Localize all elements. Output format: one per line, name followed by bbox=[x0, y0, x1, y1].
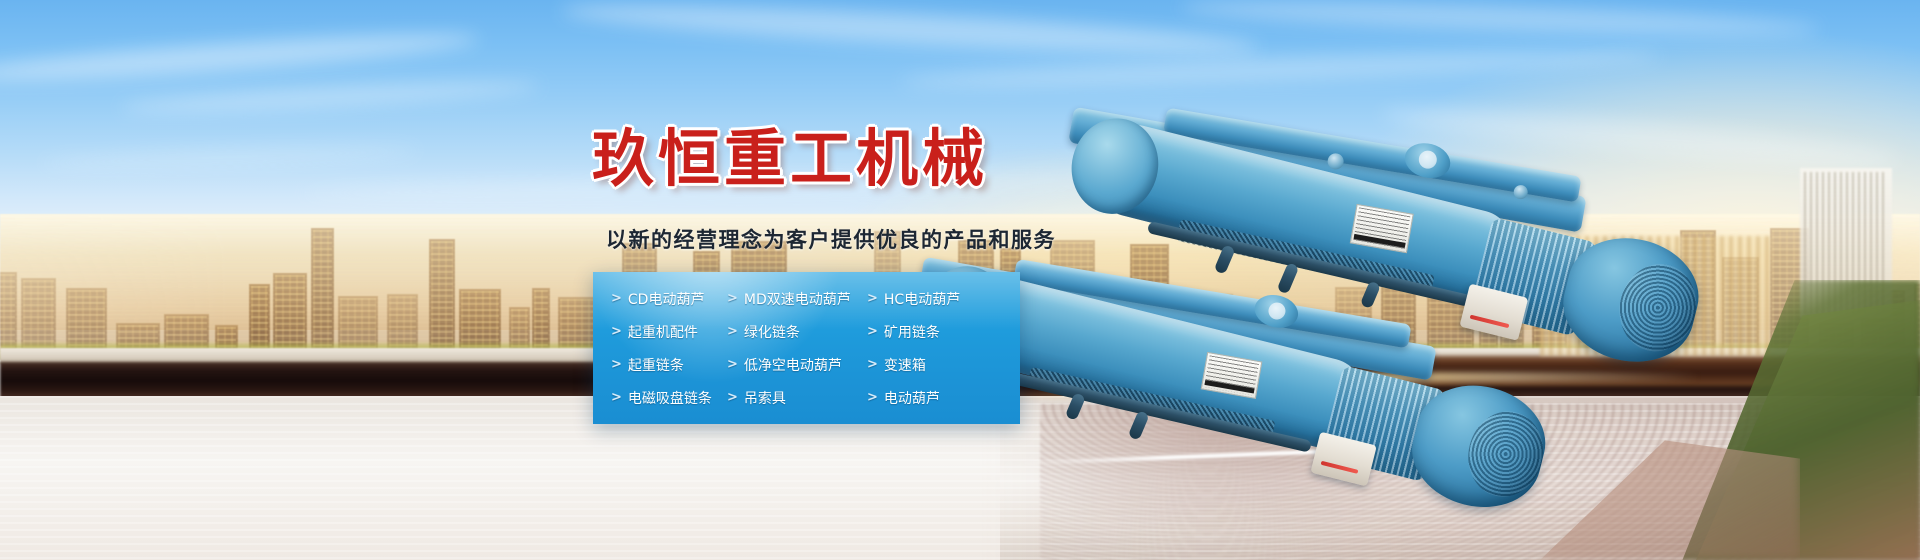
product-category-label: 电动葫芦 bbox=[884, 388, 940, 408]
product-category-label: CD电动葫芦 bbox=[628, 289, 705, 309]
product-category-link[interactable]: >电动葫芦 bbox=[867, 388, 1020, 408]
product-category-link[interactable]: >变速箱 bbox=[867, 355, 1020, 375]
product-category-link[interactable]: >电磁吸盘链条 bbox=[611, 388, 727, 408]
product-category-label: 电磁吸盘链条 bbox=[628, 388, 712, 408]
junction-box-label bbox=[1470, 315, 1510, 329]
product-category-label: 起重机配件 bbox=[628, 322, 698, 342]
chevron-right-icon: > bbox=[611, 390, 622, 405]
product-category-link[interactable]: >吊索具 bbox=[727, 388, 867, 408]
product-category-link[interactable]: >绿化链条 bbox=[727, 322, 867, 342]
chevron-right-icon: > bbox=[867, 291, 878, 306]
chevron-right-icon: > bbox=[727, 390, 738, 405]
hoist-group bbox=[1040, 40, 1920, 460]
chevron-right-icon: > bbox=[611, 357, 622, 372]
product-category-link[interactable]: >MD双速电动葫芦 bbox=[727, 289, 867, 309]
product-category-link[interactable]: >CD电动葫芦 bbox=[611, 289, 727, 309]
product-category-link[interactable]: >矿用链条 bbox=[867, 322, 1020, 342]
junction-box-label bbox=[1321, 461, 1359, 474]
hanger-bracket bbox=[1128, 410, 1150, 440]
product-category-link[interactable]: >低净空电动葫芦 bbox=[727, 355, 867, 375]
chevron-right-icon: > bbox=[727, 357, 738, 372]
product-category-label: 低净空电动葫芦 bbox=[744, 355, 842, 375]
product-category-label: 起重链条 bbox=[628, 355, 684, 375]
product-category-label: 矿用链条 bbox=[884, 322, 940, 342]
product-category-label: MD双速电动葫芦 bbox=[744, 289, 851, 309]
chevron-right-icon: > bbox=[611, 291, 622, 306]
product-category-label: 变速箱 bbox=[884, 355, 926, 375]
page-title: 玖恒重工机械 bbox=[592, 108, 988, 198]
promotional-banner: 玖恒重工机械 以新的经营理念为客户提供优良的产品和服务 >CD电动葫芦>MD双速… bbox=[0, 0, 1920, 560]
product-category-link[interactable]: >起重链条 bbox=[611, 355, 727, 375]
chevron-right-icon: > bbox=[727, 324, 738, 339]
product-category-label: 绿化链条 bbox=[744, 322, 800, 342]
chevron-right-icon: > bbox=[867, 357, 878, 372]
product-category-label: 吊索具 bbox=[744, 388, 786, 408]
product-category-link[interactable]: >HC电动葫芦 bbox=[867, 289, 1020, 309]
product-category-panel: >CD电动葫芦>MD双速电动葫芦>HC电动葫芦>起重机配件>绿化链条>矿用链条>… bbox=[593, 272, 1020, 424]
chevron-right-icon: > bbox=[867, 324, 878, 339]
chevron-right-icon: > bbox=[727, 291, 738, 306]
chevron-right-icon: > bbox=[867, 390, 878, 405]
subtitle: 以新的经营理念为客户提供优良的产品和服务 bbox=[606, 224, 1056, 254]
chevron-right-icon: > bbox=[611, 324, 622, 339]
product-category-label: HC电动葫芦 bbox=[884, 289, 960, 309]
product-category-grid: >CD电动葫芦>MD双速电动葫芦>HC电动葫芦>起重机配件>绿化链条>矿用链条>… bbox=[593, 272, 1020, 424]
product-category-link[interactable]: >起重机配件 bbox=[611, 322, 727, 342]
